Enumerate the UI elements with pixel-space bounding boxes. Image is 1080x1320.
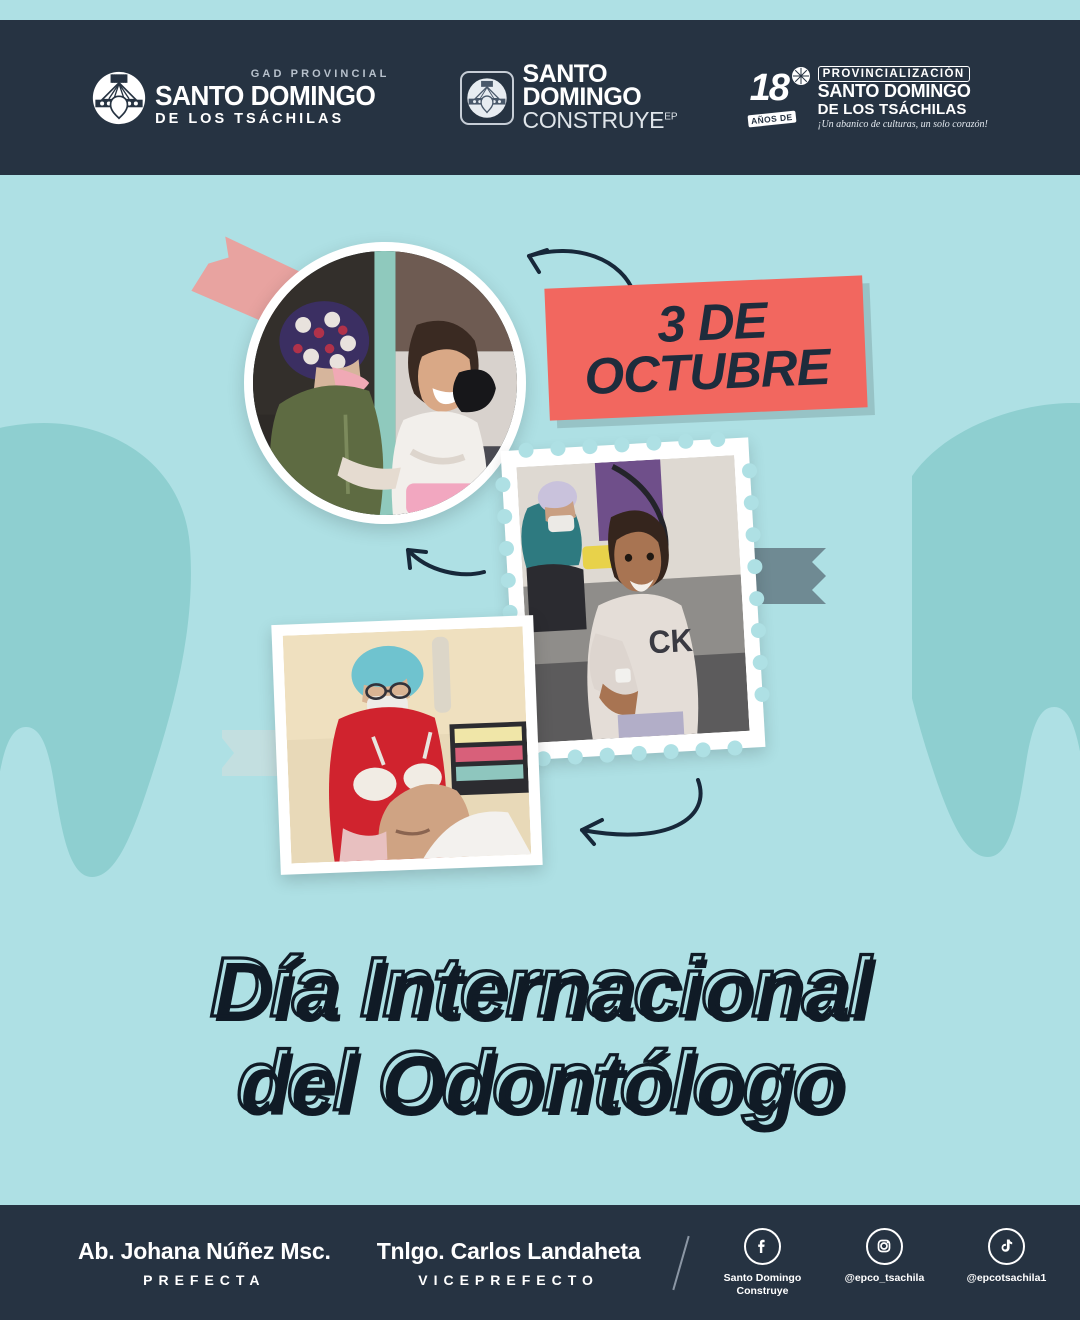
construye-emblem-icon	[460, 71, 514, 125]
social-tiktok[interactable]: @epcotsachila1	[960, 1228, 1052, 1285]
social-label: Santo Domingo Construye	[716, 1272, 808, 1298]
logo-main-text: SANTO DOMINGO	[155, 82, 375, 110]
provincializacion-mid: SANTO DOMINGO	[818, 82, 988, 101]
authority-role: PREFECTA	[78, 1272, 331, 1288]
social-label: @epcotsachila1	[960, 1272, 1052, 1285]
page-title-line-1: Día Internacional	[0, 940, 1080, 1034]
photo-girl-smiling-clinic: CK	[501, 437, 766, 760]
arrow-middle-icon	[388, 528, 498, 586]
construye-line2: DOMINGO	[523, 86, 678, 109]
authority-name: Tnlgo. Carlos Landaheta	[377, 1238, 641, 1265]
logo-gad-provincial-santo-domingo: GAD PROVINCIAL SANTO DOMINGO DE LOS TSÁC…	[92, 69, 389, 127]
page-title-line-2: del Odontólogo	[0, 1034, 1080, 1128]
construye-suffix: EP	[664, 112, 677, 123]
page-title: Día Internacional del Odontólogo	[0, 940, 1080, 1128]
social-facebook[interactable]: Santo Domingo Construye	[716, 1228, 808, 1298]
photo-dentist-girl-mirror	[244, 242, 526, 524]
tiktok-icon[interactable]	[988, 1228, 1025, 1265]
logo-kicker: GAD PROVINCIAL	[155, 69, 389, 80]
social-label: @epco_tsachila	[838, 1272, 930, 1285]
arrow-bottom-icon	[548, 778, 718, 860]
provincializacion-label: PROVINCIALIZACIÓN	[818, 66, 970, 82]
authority-prefecta: Ab. Johana Núñez Msc. PREFECTA	[78, 1238, 331, 1288]
gad-provincial-emblem-icon	[92, 71, 146, 125]
header-logo-bar: GAD PROVINCIAL SANTO DOMINGO DE LOS TSÁC…	[0, 20, 1080, 175]
svg-text:CK: CK	[648, 622, 694, 660]
footer-divider	[673, 1235, 690, 1289]
logo-18-anios-provincializacion: 18 AÑOS DE PROVINCIALIZACIÓN SANTO DOMIN…	[748, 64, 988, 131]
logo-santo-domingo-construye: SANTO DOMINGO CONSTRUYEEP	[460, 63, 678, 133]
authority-role: VICEPREFECTO	[377, 1272, 641, 1288]
provincializacion-bot: DE LOS TSÁCHILAS	[818, 102, 988, 118]
anniversary-anios-label: AÑOS DE	[747, 111, 796, 128]
photo-dentist-treating-patient	[271, 615, 542, 875]
date-line-2: OCTUBRE	[584, 343, 831, 402]
date-badge: 3 DE OCTUBRE	[544, 275, 867, 420]
logo-sub-text: DE LOS TSÁCHILAS	[155, 112, 389, 127]
anniversary-burst-icon	[792, 67, 810, 85]
facebook-icon[interactable]	[744, 1228, 781, 1265]
anniversary-number-badge: 18 AÑOS DE	[748, 69, 810, 125]
anniversary-number: 18	[750, 69, 788, 107]
footer-bar: Ab. Johana Núñez Msc. PREFECTA Tnlgo. Ca…	[0, 1205, 1080, 1320]
authority-name: Ab. Johana Núñez Msc.	[78, 1238, 331, 1265]
social-links: Santo Domingo Construye @epco_tsachila @…	[716, 1228, 1052, 1298]
construye-line3: CONSTRUYE	[523, 107, 665, 133]
authority-viceprefecto: Tnlgo. Carlos Landaheta VICEPREFECTO	[377, 1238, 641, 1288]
social-instagram[interactable]: @epco_tsachila	[838, 1228, 930, 1285]
instagram-icon[interactable]	[866, 1228, 903, 1265]
provincializacion-slogan: ¡Un abanico de culturas, un solo corazón…	[818, 120, 988, 131]
